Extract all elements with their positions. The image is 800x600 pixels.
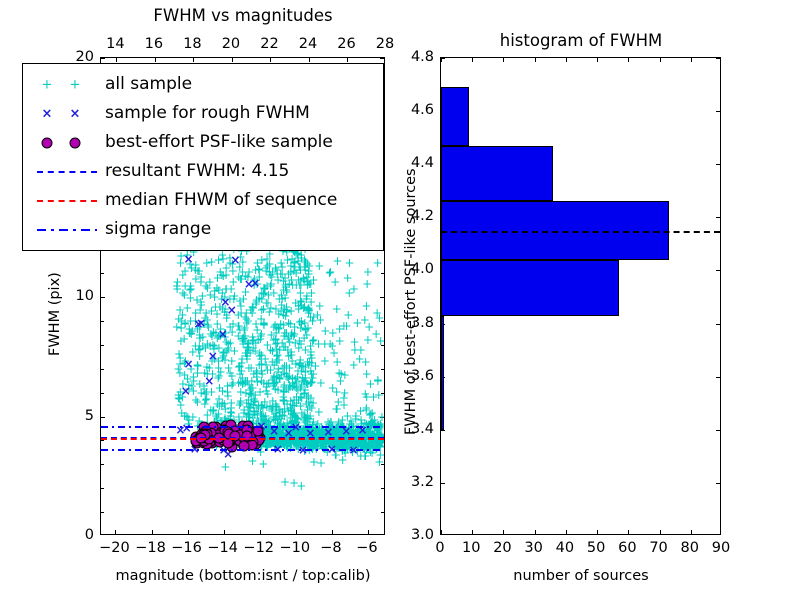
- hist-y-tick: [441, 58, 445, 59]
- scatter-ylabel: FWHM (pix): [48, 272, 63, 356]
- y-minor-tick: [101, 321, 104, 322]
- rough-sample-marker: ×: [250, 277, 260, 289]
- hist-reference-line-resultant-fwhm: [441, 231, 720, 233]
- legend-label: median FHWM of sequence: [105, 192, 337, 209]
- x-tick-bottom: [224, 530, 225, 534]
- figure-canvas: FWHM vs magnitudes +++++++++++++++++++++…: [0, 0, 800, 600]
- x-tick-bottom: [115, 530, 116, 534]
- hist-y-tick-label: 4.8: [396, 50, 434, 65]
- hist-y-tick-label: 3.2: [396, 475, 434, 490]
- hist-x-tick-label: 10: [462, 541, 480, 556]
- y-tick-label: 0: [64, 528, 94, 543]
- rough-sample-marker: ×: [227, 304, 237, 316]
- hist-y-tick: [716, 270, 720, 271]
- all-sample-marker: +: [223, 390, 233, 402]
- hist-x-tick: [628, 530, 629, 534]
- all-sample-marker: +: [361, 300, 371, 312]
- x-tick-top: [232, 58, 233, 62]
- y-minor-tick: [381, 369, 384, 370]
- all-sample-marker: +: [258, 458, 268, 470]
- hist-x-tick: [691, 530, 692, 534]
- histogram-title: histogram of FWHM: [500, 33, 663, 50]
- hist-y-tick: [716, 483, 720, 484]
- x-tick-label-top: 14: [106, 37, 124, 52]
- all-sample-marker: +: [223, 344, 233, 356]
- x-tick-label-top: 18: [183, 37, 201, 52]
- hist-y-tick-label: 4.6: [396, 103, 434, 118]
- hist-x-tick: [535, 58, 536, 62]
- legend-key: ++: [31, 75, 105, 95]
- all-sample-marker: +: [241, 375, 251, 387]
- all-sample-marker: +: [274, 410, 284, 422]
- x-tick-label-bottom: −6: [356, 541, 377, 556]
- x-tick-label-bottom: −14: [207, 541, 238, 556]
- y-minor-tick: [101, 512, 104, 513]
- all-sample-marker: +: [180, 280, 190, 292]
- hist-y-tick: [441, 483, 445, 484]
- all-sample-marker: +: [324, 267, 334, 279]
- x-tick-label-top: 24: [299, 37, 317, 52]
- hist-x-tick-label: 50: [587, 541, 605, 556]
- all-sample-marker: +: [244, 362, 254, 374]
- hist-x-tick: [597, 58, 598, 62]
- all-sample-marker: +: [220, 461, 230, 473]
- all-sample-marker: +: [269, 321, 279, 333]
- y-minor-tick: [101, 440, 104, 441]
- x-tick-top: [309, 58, 310, 62]
- cross-marker: ×: [42, 107, 53, 120]
- all-sample-marker: +: [373, 375, 383, 387]
- all-sample-marker: +: [302, 258, 312, 270]
- hist-x-tick: [441, 530, 442, 534]
- x-tick-label-top: 22: [260, 37, 278, 52]
- y-minor-tick: [381, 488, 384, 489]
- all-sample-marker: +: [193, 265, 203, 277]
- all-sample-marker: +: [228, 265, 238, 277]
- all-sample-marker: +: [281, 310, 291, 322]
- hist-y-tick: [716, 377, 720, 378]
- histogram-xlabel: number of sources: [513, 569, 649, 584]
- y-minor-tick: [101, 273, 104, 274]
- hist-x-tick: [660, 58, 661, 62]
- rough-sample-marker: ×: [181, 385, 191, 397]
- y-minor-tick: [381, 273, 384, 274]
- x-tick-label-bottom: −10: [279, 541, 310, 556]
- hist-x-tick-label: 90: [712, 541, 730, 556]
- x-tick-label-top: 16: [145, 37, 163, 52]
- all-sample-marker: +: [262, 339, 272, 351]
- y-minor-tick: [381, 512, 384, 513]
- all-sample-marker: +: [282, 284, 292, 296]
- hist-y-tick: [716, 58, 720, 59]
- legend-row: resultant FWHM: 4.15: [31, 157, 373, 186]
- all-sample-marker: +: [338, 454, 348, 466]
- all-sample-marker: +: [196, 299, 206, 311]
- x-tick-bottom: [368, 530, 369, 534]
- x-tick-label-top: 20: [222, 37, 240, 52]
- hist-x-tick: [566, 530, 567, 534]
- legend-label: sigma range: [105, 221, 211, 238]
- rough-sample-marker: ×: [218, 328, 228, 340]
- all-sample-marker: +: [299, 275, 309, 287]
- reference-line-median-fwhm: [101, 438, 384, 440]
- all-sample-marker: +: [320, 355, 330, 367]
- all-sample-marker: +: [295, 287, 305, 299]
- rough-sample-marker: ×: [204, 375, 214, 387]
- x-tick-label-bottom: −20: [99, 541, 130, 556]
- hist-x-tick: [597, 530, 598, 534]
- all-sample-marker: +: [210, 301, 220, 313]
- hist-x-tick: [472, 58, 473, 62]
- y-tick: [380, 297, 384, 298]
- all-sample-marker: +: [192, 359, 202, 371]
- legend-row: best-effort PSF-like sample: [31, 128, 373, 157]
- hist-y-tick: [716, 430, 720, 431]
- all-sample-marker: +: [377, 411, 384, 423]
- plus-marker: +: [70, 78, 81, 91]
- all-sample-marker: +: [328, 382, 338, 394]
- legend-label: best-effort PSF-like sample: [105, 134, 333, 151]
- all-sample-marker: +: [373, 257, 383, 269]
- all-sample-marker: +: [269, 378, 279, 390]
- all-sample-marker: +: [212, 282, 222, 294]
- all-sample-marker: +: [305, 400, 315, 412]
- hist-x-tick-label: 0: [435, 541, 444, 556]
- x-tick-top: [347, 58, 348, 62]
- dashed-line-swatch: [37, 171, 97, 173]
- all-sample-marker: +: [259, 377, 269, 389]
- legend-label: all sample: [105, 76, 192, 93]
- circle-marker: [70, 137, 81, 148]
- scatter-title: FWHM vs magnitudes: [153, 8, 332, 25]
- all-sample-marker: +: [362, 278, 372, 290]
- x-tick-label-top: 26: [337, 37, 355, 52]
- hist-y-tick: [716, 324, 720, 325]
- x-tick-bottom: [260, 530, 261, 534]
- histogram-bar[interactable]: [441, 87, 469, 145]
- all-sample-marker: +: [362, 368, 372, 380]
- all-sample-marker: +: [336, 368, 346, 380]
- histogram-axes[interactable]: [440, 57, 721, 535]
- all-sample-marker: +: [276, 268, 286, 280]
- all-sample-marker: +: [374, 389, 384, 401]
- hist-y-tick-label: 4.0: [396, 262, 434, 277]
- hist-x-tick: [535, 530, 536, 534]
- all-sample-marker: +: [316, 377, 326, 389]
- all-sample-marker: +: [366, 408, 376, 420]
- x-tick-top: [116, 58, 117, 62]
- x-tick-bottom: [332, 530, 333, 534]
- histogram-bar[interactable]: [441, 316, 444, 430]
- all-sample-marker: +: [363, 266, 373, 278]
- plot-legend[interactable]: ++all sample××sample for rough FWHMbest-…: [22, 63, 384, 251]
- hist-x-tick: [628, 58, 629, 62]
- hist-x-tick: [660, 530, 661, 534]
- y-minor-tick: [101, 488, 104, 489]
- circle-marker: [42, 137, 53, 148]
- reference-line-sigma-upper: [101, 426, 384, 428]
- all-sample-marker: +: [339, 399, 349, 411]
- hist-x-tick-label: 60: [618, 541, 636, 556]
- hist-x-tick: [691, 58, 692, 62]
- legend-key: [31, 162, 105, 182]
- hist-x-tick: [503, 58, 504, 62]
- y-tick: [101, 58, 105, 59]
- rough-sample-marker: ×: [183, 358, 193, 370]
- y-minor-tick: [101, 369, 104, 370]
- x-tick-label-bottom: −8: [320, 541, 341, 556]
- x-tick-top: [193, 58, 194, 62]
- all-sample-marker: +: [300, 324, 310, 336]
- hist-x-tick: [503, 530, 504, 534]
- y-minor-tick: [101, 464, 104, 465]
- x-tick-label-bottom: −16: [171, 541, 202, 556]
- all-sample-marker: +: [362, 391, 372, 403]
- all-sample-marker: +: [238, 335, 248, 347]
- all-sample-marker: +: [247, 455, 257, 467]
- all-sample-marker: +: [349, 359, 359, 371]
- y-tick: [380, 58, 384, 59]
- hist-x-tick-label: 80: [681, 541, 699, 556]
- all-sample-marker: +: [355, 405, 365, 417]
- hist-y-tick: [716, 164, 720, 165]
- all-sample-marker: +: [246, 304, 256, 316]
- all-sample-marker: +: [376, 335, 384, 347]
- all-sample-marker: +: [339, 320, 349, 332]
- hist-x-tick: [472, 530, 473, 534]
- all-sample-marker: +: [344, 287, 354, 299]
- x-tick-label-top: 28: [376, 37, 394, 52]
- hist-x-tick-label: 30: [524, 541, 542, 556]
- all-sample-marker: +: [178, 309, 188, 321]
- all-sample-marker: +: [256, 353, 266, 365]
- all-sample-marker: +: [335, 335, 345, 347]
- y-tick: [101, 417, 105, 418]
- all-sample-marker: +: [342, 410, 352, 422]
- all-sample-marker: +: [309, 456, 319, 468]
- all-sample-marker: +: [290, 261, 300, 273]
- all-sample-marker: +: [296, 480, 306, 492]
- histogram-bar[interactable]: [441, 260, 619, 316]
- legend-row: ++all sample: [31, 70, 373, 99]
- all-sample-marker: +: [218, 253, 228, 265]
- x-tick-top: [155, 58, 156, 62]
- legend-key: [31, 220, 105, 240]
- scatter-xlabel: magnitude (bottom:isnt / top:calib): [115, 569, 370, 584]
- rough-sample-marker: ×: [208, 350, 218, 362]
- plus-marker: +: [42, 78, 53, 91]
- y-minor-tick: [101, 393, 104, 394]
- all-sample-marker: +: [299, 375, 309, 387]
- all-sample-marker: +: [287, 327, 297, 339]
- x-tick-bottom: [188, 530, 189, 534]
- hist-x-tick-label: 20: [493, 541, 511, 556]
- all-sample-marker: +: [320, 325, 330, 337]
- dashdot-line-swatch: [37, 229, 97, 231]
- legend-key: [31, 133, 105, 153]
- all-sample-marker: +: [361, 356, 371, 368]
- x-tick-bottom: [152, 530, 153, 534]
- all-sample-marker: +: [332, 303, 342, 315]
- all-sample-marker: +: [306, 346, 316, 358]
- all-sample-marker: +: [251, 318, 261, 330]
- legend-label: sample for rough FWHM: [105, 105, 310, 122]
- all-sample-marker: +: [279, 341, 289, 353]
- all-sample-marker: +: [372, 307, 382, 319]
- y-tick: [101, 297, 105, 298]
- histogram-bar[interactable]: [441, 146, 553, 202]
- rough-sample-marker: ×: [183, 253, 193, 265]
- legend-row: median FHWM of sequence: [31, 186, 373, 215]
- legend-row: sigma range: [31, 215, 373, 244]
- hist-x-tick-label: 70: [649, 541, 667, 556]
- legend-label: resultant FWHM: 4.15: [105, 163, 289, 180]
- x-tick-label-bottom: −18: [135, 541, 166, 556]
- x-tick-bottom: [296, 530, 297, 534]
- hist-y-tick: [716, 217, 720, 218]
- hist-x-tick-label: 40: [556, 541, 574, 556]
- dashed-line-swatch: [37, 200, 97, 202]
- hist-y-tick-label: 3.0: [396, 528, 434, 543]
- all-sample-marker: +: [313, 309, 323, 321]
- all-sample-marker: +: [296, 338, 306, 350]
- x-tick-label-bottom: −12: [243, 541, 274, 556]
- cross-marker: ×: [70, 107, 81, 120]
- reference-line-sigma-lower: [101, 449, 384, 451]
- all-sample-marker: +: [344, 257, 354, 269]
- rough-sample-marker: ×: [230, 254, 240, 266]
- hist-y-tick-label: 4.2: [396, 209, 434, 224]
- rough-sample-marker: ×: [196, 317, 206, 329]
- legend-key: [31, 191, 105, 211]
- all-sample-marker: +: [185, 292, 195, 304]
- legend-row: ××sample for rough FWHM: [31, 99, 373, 128]
- hist-y-tick-label: 4.4: [396, 156, 434, 171]
- all-sample-marker: +: [314, 260, 324, 272]
- legend-key: ××: [31, 104, 105, 124]
- y-tick-label: 10: [64, 289, 94, 304]
- hist-y-tick-label: 3.8: [396, 315, 434, 330]
- all-sample-marker: +: [228, 377, 238, 389]
- all-sample-marker: +: [258, 303, 268, 315]
- hist-y-tick: [716, 111, 720, 112]
- all-sample-marker: +: [350, 344, 360, 356]
- y-tick-label: 5: [64, 408, 94, 423]
- hist-x-tick: [566, 58, 567, 62]
- hist-y-tick-label: 3.4: [396, 422, 434, 437]
- all-sample-marker: +: [298, 361, 308, 373]
- all-sample-marker: +: [176, 399, 186, 411]
- all-sample-marker: +: [352, 317, 362, 329]
- hist-y-tick: [441, 430, 445, 431]
- hist-y-tick-label: 3.6: [396, 368, 434, 383]
- y-minor-tick: [101, 345, 104, 346]
- all-sample-marker: +: [206, 386, 216, 398]
